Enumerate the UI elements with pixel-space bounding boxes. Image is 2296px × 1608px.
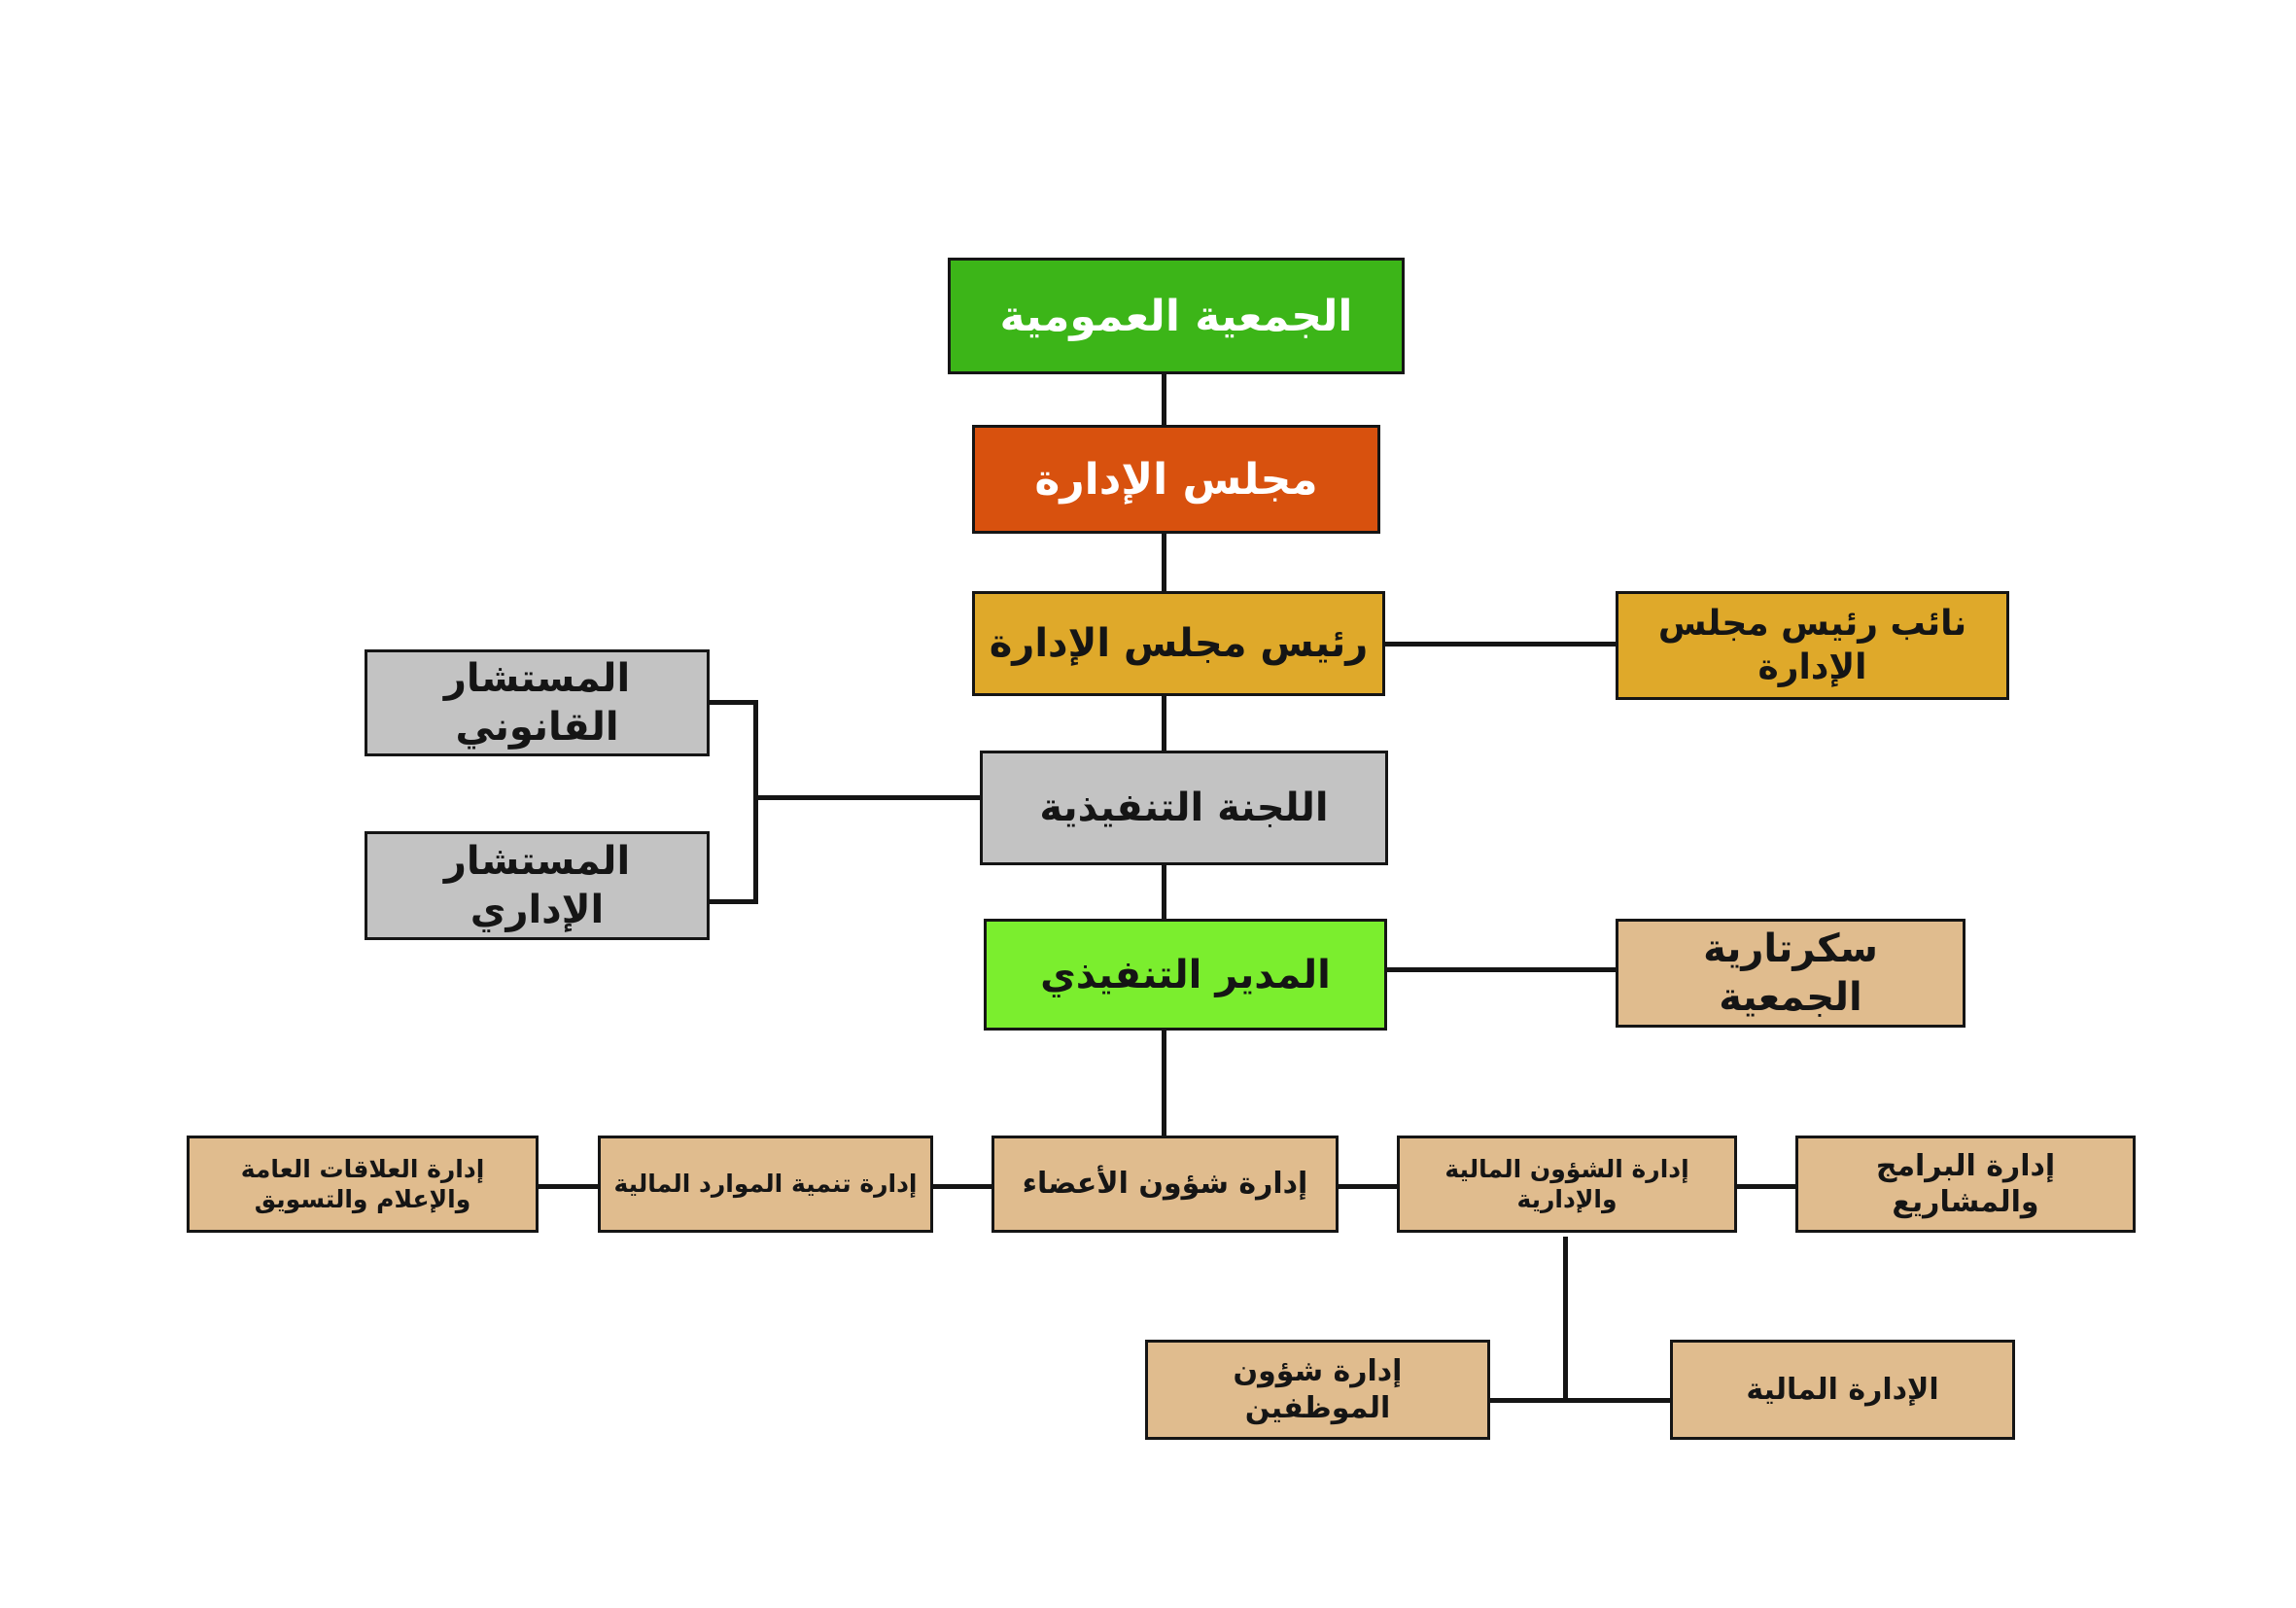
node-programs-and-projects[interactable]: إدارة البرامج والمشاريع [1795, 1136, 2136, 1233]
node-financial-and-administrative-affairs-label: إدارة الشؤون المالية والإدارية [1408, 1154, 1726, 1215]
connector-director-to-secretariat [1384, 967, 1618, 972]
node-executive-director-label: المدير التنفيذي [994, 951, 1376, 999]
node-executive-committee-label: اللجنة التنفيذية [991, 784, 1377, 832]
node-vice-chairman-label: نائب رئيس مجلس الإدارة [1626, 602, 1999, 689]
node-executive-director[interactable]: المدير التنفيذي [984, 919, 1387, 1031]
node-public-relations-label-line2: والإعلام والتسويق [197, 1184, 528, 1214]
node-chairman-label: رئيس مجلس الإدارة [983, 619, 1374, 668]
org-chart-canvas: الجمعية العمومية مجلس الإدارة رئيس مجلس … [0, 0, 2296, 1608]
node-finance-administration-label: الإدارة المالية [1681, 1372, 2004, 1409]
node-executive-committee[interactable]: اللجنة التنفيذية [980, 751, 1388, 865]
node-general-assembly-label: الجمعية العمومية [958, 290, 1394, 343]
node-board-of-directors[interactable]: مجلس الإدارة [972, 425, 1380, 534]
node-association-secretariat-label: سكرتارية الجمعية [1626, 925, 1955, 1022]
connector-assembly-to-board [1162, 369, 1166, 428]
connector-finadmin-to-subunits [1563, 1237, 1568, 1402]
node-general-assembly[interactable]: الجمعية العمومية [948, 258, 1405, 374]
node-programs-and-projects-label: إدارة البرامج والمشاريع [1806, 1148, 2125, 1221]
connector-resources-to-members [928, 1184, 996, 1189]
node-staff-affairs[interactable]: إدارة شؤون الموظفين [1145, 1340, 1490, 1440]
node-administrative-advisor-label: المستشار الإداري [375, 837, 699, 934]
connector-chairman-to-vice-chairman [1384, 642, 1618, 647]
node-administrative-advisor[interactable]: المستشار الإداري [365, 831, 710, 940]
connector-advisors-to-exec-committee [753, 795, 982, 800]
connector-director-to-departments [1162, 1031, 1166, 1147]
node-board-of-directors-label: مجلس الإدارة [983, 453, 1370, 507]
node-financial-resources-development[interactable]: إدارة تنمية الموارد المالية [598, 1136, 933, 1233]
node-legal-advisor-label: المستشار القانوني [375, 654, 699, 752]
node-chairman[interactable]: رئيس مجلس الإدارة [972, 591, 1385, 696]
node-public-relations-label-line1: إدارة العلاقات العامة [197, 1154, 528, 1184]
connector-finadmin-to-programs [1732, 1184, 1800, 1189]
connector-legal-advisor-to-spine [707, 700, 758, 705]
node-legal-advisor[interactable]: المستشار القانوني [365, 649, 710, 756]
connector-subunits-crossbar [1487, 1398, 1701, 1403]
node-vice-chairman[interactable]: نائب رئيس مجلس الإدارة [1616, 591, 2009, 700]
connector-admin-advisor-to-spine [707, 899, 758, 904]
connector-pr-to-resources [535, 1184, 603, 1189]
node-staff-affairs-label: إدارة شؤون الموظفين [1156, 1353, 1479, 1426]
connector-members-to-finadmin [1334, 1184, 1402, 1189]
node-member-affairs-label: إدارة شؤون الأعضاء [1002, 1166, 1328, 1203]
node-financial-and-administrative-affairs[interactable]: إدارة الشؤون المالية والإدارية [1397, 1136, 1737, 1233]
node-financial-resources-development-label: إدارة تنمية الموارد المالية [609, 1169, 922, 1199]
node-finance-administration[interactable]: الإدارة المالية [1670, 1340, 2015, 1440]
connector-chairman-to-exec-committee [1162, 690, 1166, 758]
node-public-relations[interactable]: إدارة العلاقات العامة والإعلام والتسويق [187, 1136, 539, 1233]
connector-advisors-spine [753, 700, 758, 904]
node-member-affairs[interactable]: إدارة شؤون الأعضاء [991, 1136, 1339, 1233]
node-association-secretariat[interactable]: سكرتارية الجمعية [1616, 919, 1966, 1028]
connector-board-to-chairman [1162, 530, 1166, 598]
